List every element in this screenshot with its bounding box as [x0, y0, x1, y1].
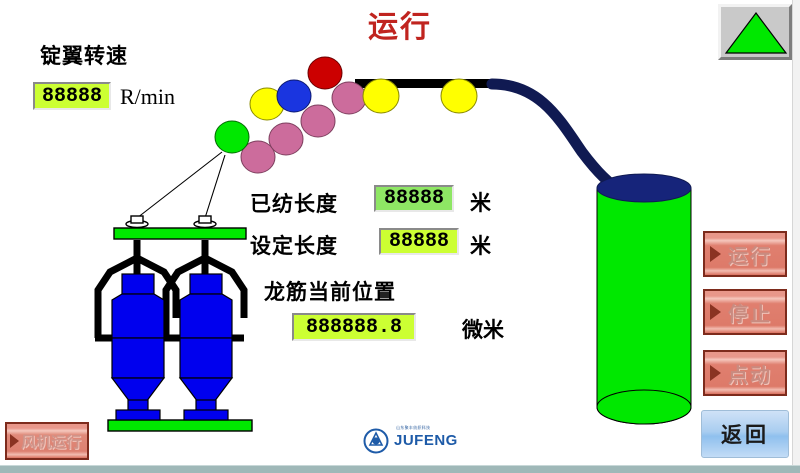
- spindle-speed-value[interactable]: 88888: [33, 82, 111, 110]
- window-right-edge: [792, 0, 800, 465]
- bar-position-value[interactable]: 888888.8: [292, 313, 416, 341]
- stop-button[interactable]: 停止: [703, 289, 787, 335]
- bobbin-left: [112, 274, 164, 420]
- ball-pink-2: [269, 123, 303, 155]
- spindle-speed-unit: R/min: [120, 84, 175, 110]
- bar-position-unit: 微米: [462, 314, 504, 344]
- status-indicator-frame[interactable]: [718, 4, 792, 60]
- play-arrow-icon: [710, 365, 721, 381]
- spun-length-value[interactable]: 88888: [374, 185, 454, 212]
- logo-wordmark: JUFENG: [394, 432, 458, 449]
- status-bar: [0, 465, 800, 473]
- jog-button[interactable]: 点动: [703, 350, 787, 396]
- jog-button-label: 点动: [728, 359, 772, 388]
- spun-length-unit: 米: [470, 187, 491, 217]
- spindle-assembly: [95, 216, 252, 431]
- ball-yellow-3: [441, 79, 477, 113]
- page-title: 运行: [330, 2, 470, 46]
- ball-blue: [277, 80, 311, 112]
- status-triangle-icon: [723, 9, 789, 57]
- fan-run-button[interactable]: 风机运行: [5, 422, 89, 460]
- top-rail-bar: [355, 79, 500, 88]
- delivery-tube: [492, 84, 621, 190]
- roving-balls: [215, 57, 477, 173]
- ball-yellow-2: [363, 79, 399, 113]
- play-arrow-icon: [10, 434, 19, 448]
- back-button[interactable]: 返回: [701, 410, 789, 458]
- hmi-screen: 运行 锭翼转速 88888 R/min 已纺长度 88888 米 设定长度 88…: [0, 0, 800, 473]
- ball-pink-1: [241, 141, 275, 173]
- brand-logo: 山东聚丰纺织科技 JUFENG: [360, 424, 460, 456]
- set-length-value[interactable]: 88888: [379, 228, 459, 255]
- ball-green: [215, 121, 249, 153]
- set-length-unit: 米: [470, 230, 491, 260]
- ball-yellow-1: [250, 88, 284, 120]
- ball-red: [308, 57, 342, 89]
- ball-pink-4: [332, 82, 366, 114]
- bobbin-right: [180, 274, 232, 420]
- set-length-label: 设定长度: [250, 230, 338, 260]
- flyer-left: [98, 240, 176, 338]
- yarn-lines: [137, 152, 225, 218]
- flyer-right: [166, 240, 244, 338]
- flyer-cap-right: [194, 216, 216, 228]
- play-arrow-icon: [710, 304, 721, 320]
- run-button[interactable]: 运行: [703, 231, 787, 277]
- spun-length-label: 已纺长度: [250, 188, 338, 218]
- flyer-cap-left: [126, 216, 148, 228]
- run-button-label: 运行: [728, 240, 772, 269]
- fan-run-button-label: 风机运行: [21, 431, 81, 452]
- stop-button-label: 停止: [728, 298, 772, 327]
- spindle-speed-label: 锭翼转速: [40, 40, 128, 70]
- play-arrow-icon: [710, 246, 721, 262]
- jufeng-mark-icon: [362, 428, 392, 454]
- bar-position-label: 龙筋当前位置: [264, 276, 396, 306]
- coiler-can: [597, 174, 691, 424]
- logo-subtitle: 山东聚丰纺织科技: [396, 425, 430, 431]
- ball-pink-3: [301, 105, 335, 137]
